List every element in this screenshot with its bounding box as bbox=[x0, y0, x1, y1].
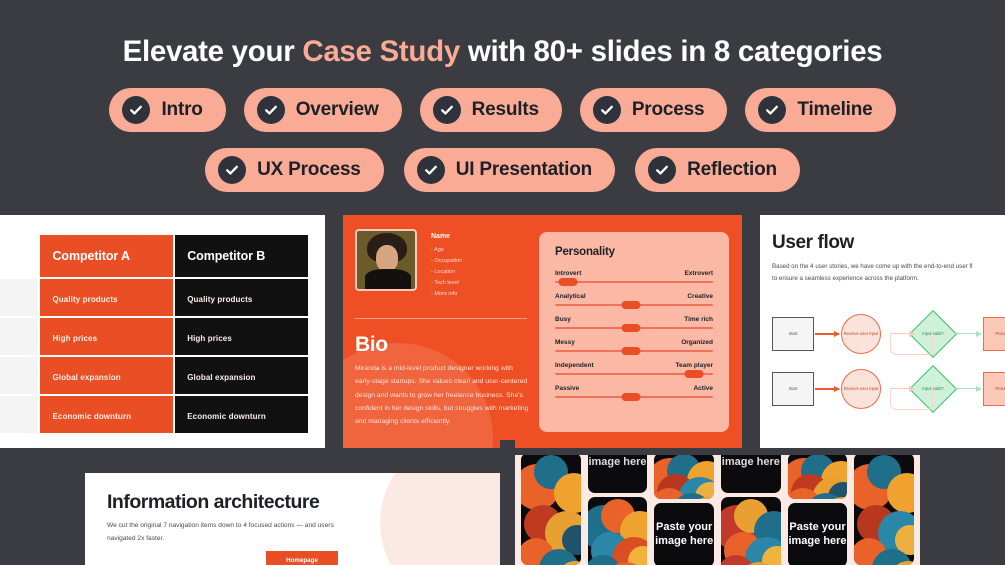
table-cell-a: High prices bbox=[40, 318, 173, 355]
abstract-art bbox=[721, 497, 781, 565]
homepage-node-button[interactable]: Homepage bbox=[266, 551, 338, 565]
table-row: Global expansionGlobal expansion bbox=[0, 357, 308, 394]
gallery-column bbox=[521, 455, 581, 565]
personality-trait-busy: BusyTime rich bbox=[555, 316, 713, 329]
check-circle-icon bbox=[257, 96, 285, 124]
flow-node-label: Receive user input bbox=[844, 386, 879, 391]
table-title-cell: analysis bbox=[0, 235, 38, 277]
flow-node-label: Process input bbox=[995, 331, 1005, 336]
flow-arrow bbox=[954, 388, 981, 389]
flow-node-process-input: Process input bbox=[983, 317, 1005, 351]
category-pill-process[interactable]: Process bbox=[580, 88, 728, 132]
table-cell-a: Global expansion bbox=[40, 357, 173, 394]
trait-slider-thumb[interactable] bbox=[621, 347, 640, 355]
abstract-art bbox=[788, 455, 848, 499]
category-pill-label: UX Process bbox=[257, 159, 361, 181]
personality-trait-introvert: IntrovertExtrovert bbox=[555, 270, 713, 283]
table-cell-a: Quality products bbox=[40, 279, 173, 316]
headline-part1: Elevate your bbox=[123, 35, 303, 68]
slide-competitor-analysis[interactable]: analysisCompetitor ACompetitor BQuality … bbox=[0, 215, 325, 448]
ia-subtitle: We cut the original 7 navigation items d… bbox=[107, 519, 397, 545]
trait-slider-track[interactable] bbox=[555, 396, 713, 398]
table-cell-b: Global expansion bbox=[175, 357, 308, 394]
personality-panel: Personality IntrovertExtrovertAnalytical… bbox=[539, 232, 729, 432]
category-pill-ui-presentation[interactable]: UI Presentation bbox=[404, 148, 615, 192]
category-pill-results[interactable]: Results bbox=[420, 88, 562, 132]
category-pill-row-secondary: UX ProcessUI PresentationReflection bbox=[0, 148, 1005, 192]
category-pill-label: Results bbox=[472, 99, 539, 121]
category-pill-label: Intro bbox=[161, 99, 202, 121]
check-circle-icon bbox=[433, 96, 461, 124]
check-circle-icon bbox=[758, 96, 786, 124]
flow-node-receive-user-input: Receive user input bbox=[841, 314, 881, 354]
gallery-image-tile[interactable] bbox=[521, 455, 581, 565]
personality-trait-analytical: AnalyticalCreative bbox=[555, 293, 713, 306]
table-col-a-header: Competitor A bbox=[40, 235, 173, 277]
abstract-art bbox=[654, 455, 714, 499]
table-cell-a: Economic downturn bbox=[40, 396, 173, 433]
trait-slider-track[interactable] bbox=[555, 373, 713, 375]
category-pill-timeline[interactable]: Timeline bbox=[745, 88, 895, 132]
bio-title: Bio bbox=[355, 333, 388, 357]
bio-text: Miranda is a mid-level product designer … bbox=[355, 362, 530, 428]
image-placeholder-tile[interactable]: image here bbox=[588, 455, 648, 493]
gallery-image-tile[interactable] bbox=[788, 455, 848, 499]
trait-slider-track[interactable] bbox=[555, 304, 713, 306]
flow-node-label: Start bbox=[789, 386, 798, 391]
category-pill-row-primary: IntroOverviewResultsProcessTimeline bbox=[0, 88, 1005, 132]
gallery-column: Paste your image here bbox=[654, 455, 714, 565]
table-col-b-header: Competitor B bbox=[175, 235, 308, 277]
table-row: Economic downturnEconomic downturn bbox=[0, 396, 308, 433]
trait-slider-thumb[interactable] bbox=[558, 278, 577, 286]
image-placeholder-tile[interactable]: image here bbox=[721, 455, 781, 493]
ia-title: Information architecture bbox=[107, 491, 319, 514]
slide-user-persona[interactable]: Name - Age- Occupation- Location- Tech l… bbox=[343, 215, 742, 448]
table-row-label bbox=[0, 357, 38, 394]
trait-slider-thumb[interactable] bbox=[685, 370, 704, 378]
check-circle-icon bbox=[593, 96, 621, 124]
trait-slider-thumb[interactable] bbox=[621, 301, 640, 309]
user-flow-title: User flow bbox=[772, 232, 854, 254]
divider bbox=[355, 318, 527, 319]
trait-label-left: Messy bbox=[555, 339, 575, 346]
persona-meta-item: - Tech level bbox=[431, 280, 462, 286]
table-header-row: analysisCompetitor ACompetitor B bbox=[0, 235, 308, 277]
check-circle-icon bbox=[122, 96, 150, 124]
table-row-label bbox=[0, 279, 38, 316]
flow-node-label: Receive user input bbox=[844, 331, 879, 336]
slide-row-top: analysisCompetitor ACompetitor BQuality … bbox=[0, 215, 1005, 448]
personality-trait-messy: MessyOrganized bbox=[555, 339, 713, 352]
page-title: Elevate your Case Study with 80+ slides … bbox=[0, 0, 1005, 68]
competitor-table: analysisCompetitor ACompetitor BQuality … bbox=[0, 233, 310, 435]
category-pill-label: Timeline bbox=[797, 99, 872, 121]
flow-node-label: Process input bbox=[995, 386, 1005, 391]
trait-label-left: Passive bbox=[555, 385, 579, 392]
flow-loop-connector bbox=[890, 333, 933, 355]
decorative-blob bbox=[380, 473, 500, 565]
trait-slider-thumb[interactable] bbox=[621, 393, 640, 401]
avatar bbox=[355, 229, 417, 291]
trait-slider-track[interactable] bbox=[555, 350, 713, 352]
gallery-image-tile[interactable] bbox=[588, 497, 648, 565]
category-pill-overview[interactable]: Overview bbox=[244, 88, 402, 132]
gallery-column bbox=[854, 455, 914, 565]
personality-title: Personality bbox=[555, 246, 713, 258]
flow-node-start: Start bbox=[772, 372, 814, 406]
gallery-image-tile[interactable] bbox=[854, 455, 914, 565]
user-flow-subtitle: Based on the 4 user stories, we have com… bbox=[772, 261, 1005, 286]
table-cell-b: Economic downturn bbox=[175, 396, 308, 433]
trait-label-right: Time rich bbox=[684, 316, 713, 323]
flow-loop-connector bbox=[890, 388, 933, 410]
trait-label-right: Organized bbox=[681, 339, 713, 346]
trait-label-right: Team player bbox=[676, 362, 713, 369]
persona-left-column: Name - Age- Occupation- Location- Tech l… bbox=[343, 215, 539, 448]
gallery-image-tile[interactable] bbox=[654, 455, 714, 499]
flow-node-receive-user-input: Receive user input bbox=[841, 369, 881, 409]
trait-label-left: Analytical bbox=[555, 293, 586, 300]
gallery-column: Paste your image here bbox=[788, 455, 848, 565]
trait-label-right: Extrovert bbox=[684, 270, 713, 277]
table-cell-b: High prices bbox=[175, 318, 308, 355]
image-placeholder-label: image here bbox=[588, 456, 646, 470]
flow-node-start: Start bbox=[772, 317, 814, 351]
check-circle-icon bbox=[417, 156, 445, 184]
flow-node-process-input: Process input bbox=[983, 372, 1005, 406]
trait-slider-track[interactable] bbox=[555, 327, 713, 329]
image-placeholder-tile[interactable]: Paste your image here bbox=[654, 503, 714, 565]
persona-name-label: Name bbox=[431, 233, 462, 240]
trait-label-right: Creative bbox=[687, 293, 713, 300]
persona-meta: Name - Age- Occupation- Location- Tech l… bbox=[431, 233, 462, 302]
persona-meta-item: - Location bbox=[431, 269, 462, 275]
headline-part2: with 80+ slides in 8 categories bbox=[460, 35, 882, 68]
headline-accent: Case Study bbox=[302, 35, 460, 68]
category-pill-reflection[interactable]: Reflection bbox=[635, 148, 800, 192]
persona-meta-item: - Occupation bbox=[431, 258, 462, 264]
trait-label-right: Active bbox=[693, 385, 713, 392]
personality-trait-passive: PassiveActive bbox=[555, 385, 713, 398]
image-placeholder-label: image here bbox=[722, 456, 780, 470]
trait-slider-thumb[interactable] bbox=[621, 324, 640, 332]
flow-node-label: Start bbox=[789, 331, 798, 336]
category-pill-ux-process[interactable]: UX Process bbox=[205, 148, 384, 192]
trait-slider-track[interactable] bbox=[555, 281, 713, 283]
gallery-column: image here bbox=[588, 455, 648, 565]
abstract-art bbox=[588, 497, 648, 565]
slide-user-flow[interactable]: User flow Based on the 4 user stories, w… bbox=[760, 215, 1005, 448]
slide-image-gallery[interactable]: image herePaste your image hereimage her… bbox=[515, 455, 920, 565]
gallery-grid: image herePaste your image hereimage her… bbox=[515, 455, 920, 565]
table-row-label bbox=[0, 318, 38, 355]
category-pill-label: Overview bbox=[296, 99, 379, 121]
persona-meta-item: - Age bbox=[431, 247, 462, 253]
personality-trait-independent: IndependentTeam player bbox=[555, 362, 713, 375]
table-row: High pricesHigh prices bbox=[0, 318, 308, 355]
homepage-node-label: Homepage bbox=[286, 557, 318, 564]
table-row: Quality productsQuality products bbox=[0, 279, 308, 316]
table-row-label bbox=[0, 396, 38, 433]
check-circle-icon bbox=[218, 156, 246, 184]
trait-label-left: Independent bbox=[555, 362, 594, 369]
flow-arrow bbox=[954, 333, 981, 334]
category-pill-label: UI Presentation bbox=[456, 159, 592, 181]
slide-information-architecture[interactable]: Information architecture We cut the orig… bbox=[85, 473, 500, 565]
table-cell-b: Quality products bbox=[175, 279, 308, 316]
check-circle-icon bbox=[648, 156, 676, 184]
persona-meta-item: - More info bbox=[431, 291, 462, 297]
flow-arrow bbox=[815, 333, 839, 335]
trait-label-left: Busy bbox=[555, 316, 571, 323]
trait-label-left: Introvert bbox=[555, 270, 581, 277]
slide-gap bbox=[500, 440, 515, 565]
category-pill-label: Reflection bbox=[687, 159, 777, 181]
gallery-column: image here bbox=[721, 455, 781, 565]
abstract-art bbox=[521, 455, 581, 565]
image-placeholder-label: Paste your image here bbox=[788, 521, 846, 549]
gallery-image-tile[interactable] bbox=[721, 497, 781, 565]
category-pill-label: Process bbox=[632, 99, 705, 121]
image-placeholder-tile[interactable]: Paste your image here bbox=[788, 503, 848, 565]
image-placeholder-label: Paste your image here bbox=[655, 521, 713, 549]
flow-arrow bbox=[815, 388, 839, 390]
abstract-art bbox=[854, 455, 914, 565]
category-pill-intro[interactable]: Intro bbox=[109, 88, 225, 132]
user-flow-diagram: StartReceive user inputInput valid?Proce… bbox=[768, 305, 1005, 440]
